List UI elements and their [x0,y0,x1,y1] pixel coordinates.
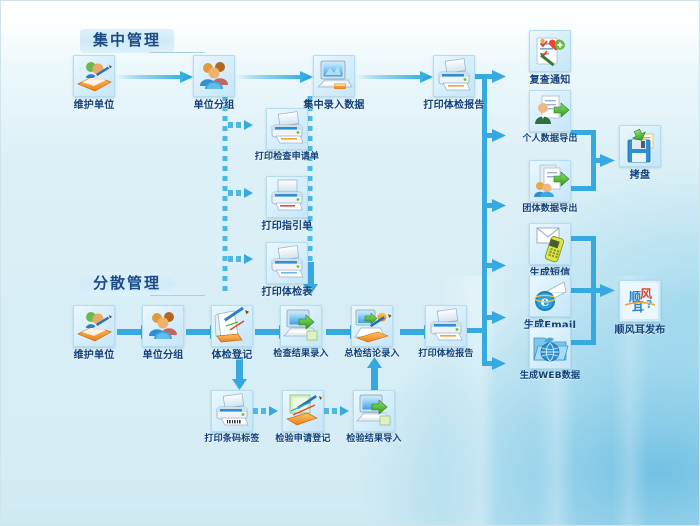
node-label: 团体数据导出 [511,205,589,215]
printer-icon [433,55,475,97]
printer-icon [266,176,308,218]
node-exam-result-entry[interactable]: 检查结果录入 [262,305,340,360]
banner-centralized-label: 集中管理 [80,29,174,53]
node-label: 复查通知 [511,75,589,86]
printer-icon [211,390,253,432]
node-label: 单位分组 [175,100,253,111]
person-export-icon [529,90,571,132]
node-label: 维护单位 [55,350,133,361]
node-recheck-notice[interactable]: 复查通知 [511,30,589,86]
node-label: 生成WEB数据 [511,372,589,382]
floppy-disk-icon [619,125,661,167]
node-batch-entry[interactable]: 集中录入数据 [295,55,373,111]
banner-centralized: 集中管理 [80,29,205,53]
node-unit-group-centralized[interactable]: 单位分组 [175,55,253,111]
node-group-data-export[interactable]: 团体数据导出 [511,160,589,215]
node-label: 顺风耳发布 [601,325,679,336]
node-unit-group-distributed[interactable]: 单位分组 [124,305,202,361]
node-label: 打印检查申请单 [248,153,326,163]
node-label: 维护单位 [55,100,133,111]
email-icon: e [529,275,571,317]
register-pen-icon [211,305,253,347]
node-label: 检验结果导入 [335,435,413,445]
node-label: 检验申请登记 [264,435,342,445]
printer-icon [425,305,467,347]
conclusion-icon [351,305,393,347]
node-label: 打印体检表 [248,287,326,298]
sms-phone-icon [529,223,571,265]
banner-distributed: 分散管理 [80,272,205,296]
node-publish-shunfenger[interactable]: 顺 风 耳 ? 顺风耳发布 [601,280,679,336]
node-lab-result-import[interactable]: 检验结果导入 [335,390,413,445]
unit-group-icon [142,305,184,347]
group-export-icon [529,160,571,202]
node-label: 总检结论录入 [333,350,411,360]
node-maintain-unit-centralized[interactable]: 维护单位 [55,55,133,111]
web-folder-icon [529,327,571,369]
node-generate-sms[interactable]: 生成短信 [511,223,589,279]
node-label: 打印体检报告 [407,350,485,360]
node-copy-disk[interactable]: 拷盘 [601,125,679,181]
printer-icon [266,242,308,284]
node-generate-web-data[interactable]: 生成WEB数据 [511,327,589,382]
computer-import-icon [280,305,322,347]
node-exam-register[interactable]: 体检登记 [193,305,271,361]
maintain-unit-icon [73,305,115,347]
publish-icon: 顺 风 耳 ? [619,280,661,322]
maintain-unit-icon [73,55,115,97]
node-label: 打印体检报告 [415,100,493,111]
recheck-notice-icon [529,30,571,72]
node-print-report-centralized[interactable]: 打印体检报告 [415,55,493,111]
node-label: 检查结果录入 [262,350,340,360]
computer-entry-icon [313,55,355,97]
printer-icon [266,108,308,150]
node-print-guide[interactable]: 打印指引单 [248,176,326,232]
arrow-register-down [232,357,248,391]
node-label: 个人数据导出 [511,135,589,145]
banner-distributed-label: 分散管理 [80,272,174,296]
dashed-branch-bus-left [222,96,228,296]
workflow-diagram: 集中管理 分散管理 [0,0,700,526]
arrow-labimport-up [367,357,383,391]
lab-request-icon [282,390,324,432]
node-print-barcode-label[interactable]: 打印条码标签 [193,390,271,445]
computer-import-icon [353,390,395,432]
node-label: 单位分组 [124,350,202,361]
node-lab-request-register[interactable]: 检验申请登记 [264,390,342,445]
node-maintain-unit-distributed[interactable]: 维护单位 [55,305,133,361]
node-print-report-distributed[interactable]: 打印体检报告 [407,305,485,360]
node-final-conclusion-entry[interactable]: 总检结论录入 [333,305,411,360]
node-label: 打印指引单 [248,221,326,232]
node-person-data-export[interactable]: 个人数据导出 [511,90,589,145]
node-generate-email[interactable]: e 生成Email [511,275,589,331]
node-print-exam-request[interactable]: 打印检查申请单 [248,108,326,163]
unit-group-icon [193,55,235,97]
node-label: 打印条码标签 [193,435,271,445]
node-label: 体检登记 [193,350,271,361]
node-print-exam-form[interactable]: 打印体检表 [248,242,326,298]
node-label: 拷盘 [601,170,679,181]
